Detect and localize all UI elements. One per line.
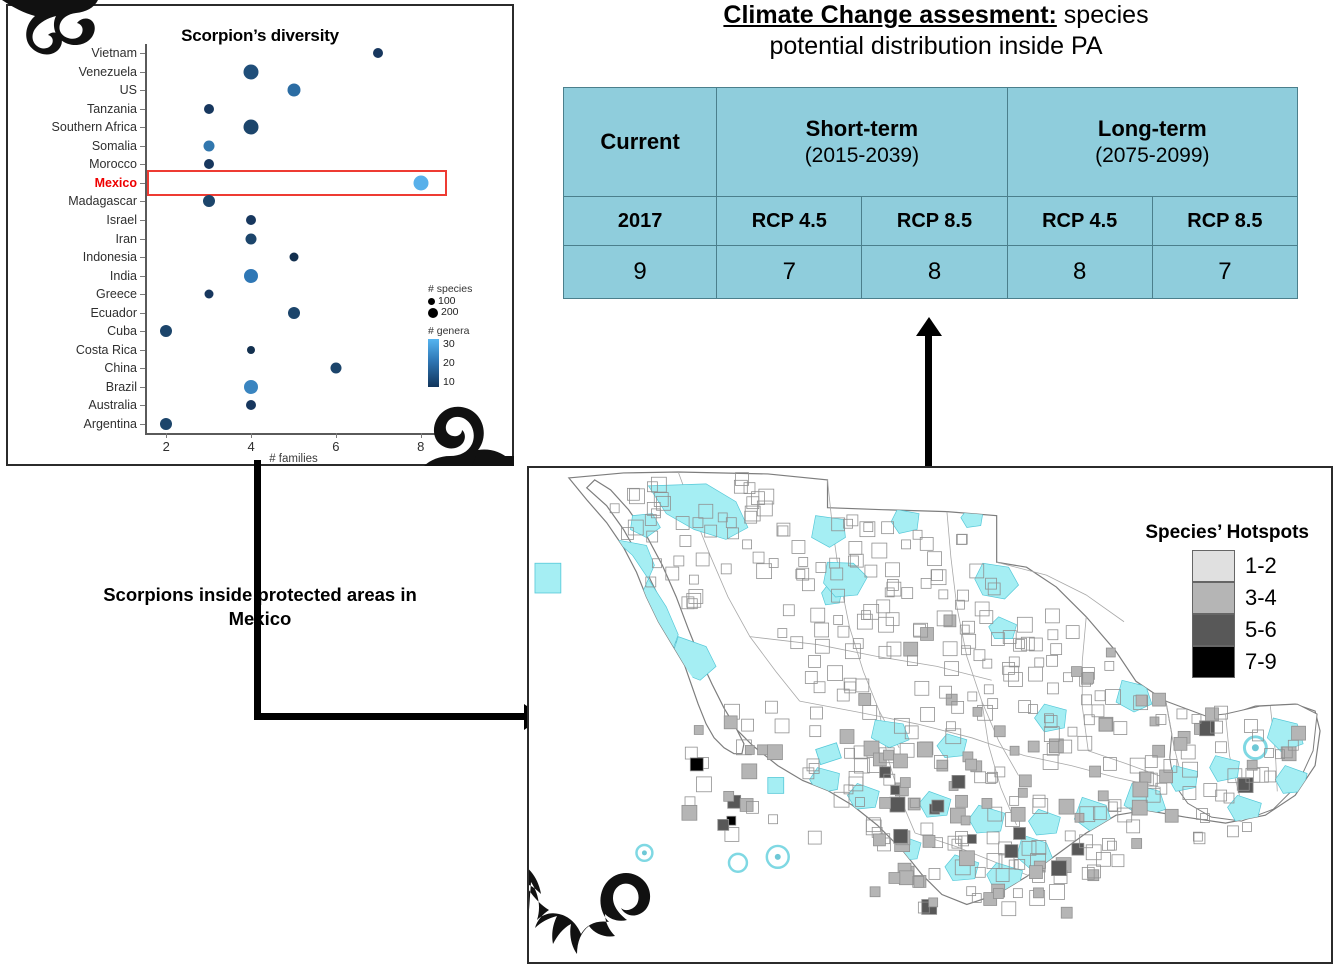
data-point-tanzania [204,104,214,114]
group-header-short-term: Short-term (2015-2039) [717,88,1007,197]
hotspot-cell [1132,800,1147,815]
group-header-current-label: Current [600,129,679,154]
hotspot-cell [917,742,932,757]
y-axis-label-venezuela: Venezuela [79,66,137,79]
hotspot-cell [1096,852,1110,866]
map-legend-row: 1-2 [1192,550,1309,582]
hotspot-cell [1200,721,1215,736]
y-axis-tick [140,276,145,277]
y-axis-tick [140,109,145,110]
hotspot-cell [966,759,977,770]
y-axis-tick [140,350,145,351]
x-axis-tick-label: 2 [163,439,170,454]
table-value-cell: 9 [564,246,717,299]
hotspot-cell [937,760,948,771]
x-axis-title: # families [145,453,442,465]
hotspot-cell [959,851,974,866]
table-value-cell: 7 [717,246,862,299]
hotspot-cell [1140,772,1151,783]
assessment-title-line2: potential distribution inside PA [769,32,1102,60]
y-axis-label-greece: Greece [96,288,137,301]
y-axis-tick [140,405,145,406]
x-axis-tick-label: 4 [247,439,254,454]
hotspot-cell [745,745,754,754]
y-axis-tick [140,220,145,221]
climate-assessment-table: Current Short-term (2015-2039) Long-term… [563,87,1298,299]
genera-tick-labels: 302010 [443,339,455,387]
arrow-chart-to-map-horizontal [254,713,526,720]
hotspot-cell [961,816,970,825]
y-axis-tick [140,53,145,54]
hotspot-cell [1002,902,1016,916]
hotspot-cell [682,805,697,820]
hotspot-cell [899,871,913,885]
assessment-title: Climate Change assesment: species potent… [556,0,1316,61]
hotspot-cell [724,791,734,801]
hotspot-cell [1112,855,1124,867]
hotspot-cell [694,726,703,735]
y-axis-tick [140,424,145,425]
data-point-somalia [203,140,214,151]
hotspot-cell [768,745,783,760]
y-axis-label-morocco: Morocco [89,158,137,171]
hotspot-cell [1194,833,1205,844]
hotspot-cell [1051,861,1066,876]
y-axis-tick [140,183,145,184]
hotspot-cell [724,716,737,729]
y-axis-tick [140,127,145,128]
hotspot-cell [742,764,757,779]
hotspot-cell [993,889,1003,899]
y-axis-label-australia: Australia [88,399,137,412]
data-point-india [244,269,258,283]
table-sub-header-cell: RCP 4.5 [717,197,862,246]
data-point-greece [204,290,213,299]
hotspot-cell [891,786,900,795]
hotspot-cell [1061,907,1072,918]
map-legend-rows: 1-23-45-67-9 [1071,550,1309,678]
data-point-australia [246,400,256,410]
y-axis-label-china: China [104,362,137,375]
caption-line2: Mexico [229,608,292,629]
hotspot-cell [690,758,703,771]
hotspot-cell [1059,799,1074,814]
table-sub-header-cell: RCP 4.5 [1007,197,1152,246]
hotspot-cell [769,815,778,824]
table-value-row: 97887 [564,246,1298,299]
group-header-current: Current [564,88,717,197]
group-header-short-term-label: Short-term [806,116,918,141]
hotspot-cell [893,754,907,768]
y-axis-label-cuba: Cuba [107,325,137,338]
map-legend-swatch [1192,646,1235,678]
hotspot-cell [884,750,894,760]
scorpion-diversity-chart-panel: Scorpion’s diversity # families # specie… [6,4,514,466]
y-axis-label-brazil: Brazil [106,380,137,393]
genera-tick-label: 10 [443,377,455,388]
data-point-indonesia [289,253,298,262]
x-axis-tick-label: 6 [332,439,339,454]
hotspot-cell [859,693,871,705]
genera-tick-label: 30 [443,339,455,350]
hotspot-cell [967,835,976,844]
map-legend-row: 5-6 [1192,614,1309,646]
map-legend-label: 7-9 [1245,651,1309,673]
table-value-cell: 8 [862,246,1007,299]
hotspot-cell [932,800,944,812]
group-header-long-term: Long-term (2075-2099) [1007,88,1297,197]
hotspot-cell [1132,839,1142,849]
y-axis-tick [140,201,145,202]
y-axis-tick [140,72,145,73]
hotspot-cell [921,628,934,641]
hotspot-cell [873,834,885,846]
table-sub-header-cell: RCP 8.5 [862,197,1007,246]
species-legend-row: 200 [428,307,510,318]
hotspot-cell [1072,843,1084,855]
hotspot-cell [840,730,854,744]
species-legend-label: 200 [441,307,459,318]
species-legend-items: 100200 [428,296,510,318]
y-axis-label-argentina: Argentina [83,417,137,430]
hotspot-cell [1050,885,1065,900]
hotspot-cell [1014,827,1026,839]
y-axis-tick [140,239,145,240]
map-legend-swatch [1192,614,1235,646]
genera-gradient-bar [428,339,439,387]
hotspot-cell [1018,788,1027,797]
data-point-china [330,363,341,374]
map-legend-title: Species’ Hotspots [1071,522,1309,544]
caption-line1: Scorpions inside protected areas in [103,584,417,605]
hotspot-cell [1193,832,1202,841]
map-legend-label: 5-6 [1245,619,1309,641]
y-axis-label-iran: Iran [115,232,137,245]
genera-legend-title: # genera [428,325,510,337]
hotspot-cell [1242,823,1251,832]
y-axis-tick [140,294,145,295]
data-point-israel [246,215,256,225]
hotspot-cell [1005,845,1018,858]
y-axis-tick [140,90,145,91]
data-point-cuba [160,325,172,337]
map-legend-row: 3-4 [1192,582,1309,614]
hotspot-cell [1107,841,1116,850]
group-header-long-term-sub: (2075-2099) [1008,143,1297,168]
scorpion-silhouette-map-bottom-left [527,854,653,964]
data-point-costa-rica [247,346,255,354]
data-point-iran [246,233,257,244]
hotspot-cell [1292,726,1306,740]
map-legend-row: 7-9 [1192,646,1309,678]
data-point-southern-africa [244,120,259,135]
hotspot-cell [1099,717,1113,731]
y-axis-tick [140,257,145,258]
hotspot-cell [1013,889,1022,898]
hotspot-cell [1165,809,1178,822]
hotspot-cell [904,642,918,656]
hotspot-cell [1136,695,1147,706]
data-point-madagascar [203,195,215,207]
table-sub-header-cell: 2017 [564,197,717,246]
data-point-argentina [160,418,172,430]
hotspot-cell [1098,791,1108,801]
mexico-highlight-box [147,170,447,196]
species-legend-label: 100 [438,296,456,307]
y-axis-label-us: US [120,84,137,97]
hotspot-cell [880,797,891,808]
hotspot-cell [1090,766,1101,777]
table-value-cell: 7 [1152,246,1297,299]
data-point-us [287,84,300,97]
species-legend-dot [428,298,435,305]
table-sub-header-row: 2017RCP 4.5RCP 8.5RCP 4.5RCP 8.5 [564,197,1298,246]
hotspot-cell [994,726,1005,737]
x-axis-tick-label: 8 [417,439,424,454]
hotspot-cell [890,797,905,812]
y-axis-tick [140,368,145,369]
x-axis-tick [251,433,252,438]
hotspot-cell [982,798,992,808]
hotspot-cell [973,707,982,716]
hotspot-cell [1174,737,1187,750]
x-axis-tick [336,433,337,438]
hotspot-cell [1010,746,1019,755]
species-legend-title: # species [428,283,510,295]
hotspot-cell [880,767,891,778]
map-legend-swatch [1192,550,1235,582]
y-axis-tick [140,387,145,388]
hotspot-cell [923,835,935,847]
hotspot-cell [889,873,900,884]
x-axis-tick [421,433,422,438]
hotspot-cell [929,898,938,907]
hotspot-cell [870,887,880,897]
hotspot-cell [1160,770,1173,783]
data-point-ecuador [288,307,300,319]
data-point-morocco [204,159,214,169]
y-axis-label-ecuador: Ecuador [90,306,137,319]
group-header-short-term-sub: (2015-2039) [717,143,1006,168]
hotspot-cell [696,777,711,792]
hotspot-cell [1019,775,1031,787]
hotspot-cell [718,819,729,830]
assessment-title-rest: species [1057,1,1149,29]
group-header-long-term-label: Long-term [1098,116,1207,141]
hotspot-cell [1133,782,1148,797]
species-legend-dot [428,308,438,318]
table-group-header-row: Current Short-term (2015-2039) Long-term… [564,88,1298,197]
data-point-brazil [244,380,258,394]
y-axis-label-israel: Israel [106,214,137,227]
map-legend-label: 3-4 [1245,587,1309,609]
y-axis-label-indonesia: Indonesia [83,251,137,264]
hotspot-cell [1030,866,1043,879]
chart-legend: # species 100200 # genera 302010 [428,283,510,387]
hotspot-cell [894,829,908,843]
y-axis-label-madagascar: Madagascar [68,195,137,208]
hotspot-cell [1049,739,1063,753]
hotspot-cell [1153,693,1166,706]
genera-legend: 302010 [428,339,510,387]
table-value-cell: 8 [1007,246,1152,299]
map-legend-swatch [1192,582,1235,614]
caption: Scorpions inside protected areas in Mexi… [35,583,485,630]
hotspot-cell [900,778,910,788]
y-axis-tick [140,331,145,332]
data-point-vietnam [373,48,383,58]
y-axis-tick [140,313,145,314]
hotspot-cell [685,747,697,759]
hotspot-cell [1028,741,1039,752]
table-sub-header-cell: RCP 8.5 [1152,197,1297,246]
y-axis-label-costa-rica: Costa Rica [76,343,137,356]
hotspot-cell [944,615,956,627]
y-axis-label-somalia: Somalia [92,140,137,153]
assessment-title-bold: Climate Change assesment: [723,1,1056,29]
x-axis-tick [166,433,167,438]
arrow-map-to-table [925,334,932,476]
hotspot-cell [1011,807,1025,821]
y-axis-label-southern-africa: Southern Africa [52,121,137,134]
scorpion-silhouette-bottom-right [416,394,514,466]
y-axis-tick [140,146,145,147]
hotspot-cell [952,775,965,788]
plot-area [146,44,442,434]
y-axis-tick [140,164,145,165]
y-axis-label-mexico: Mexico [95,177,137,190]
map-legend: Species’ Hotspots 1-23-45-67-9 [1071,522,1309,678]
map-legend-label: 1-2 [1245,555,1309,577]
hotspot-cell [1227,826,1238,837]
data-point-mexico [413,175,428,190]
y-axis-label-tanzania: Tanzania [87,103,137,116]
hotspot-cell [808,831,821,844]
y-axis-label-india: India [110,269,137,282]
hotspot-cell [956,795,968,807]
genera-tick-label: 20 [443,358,455,369]
data-point-venezuela [244,64,259,79]
hotspot-cell [1102,838,1114,850]
hotspot-cell [1033,888,1043,898]
y-axis-label-vietnam: Vietnam [91,47,137,60]
hotspot-cell [758,745,768,755]
mexico-hotspot-map-panel: Species’ Hotspots 1-23-45-67-9 [527,466,1333,964]
